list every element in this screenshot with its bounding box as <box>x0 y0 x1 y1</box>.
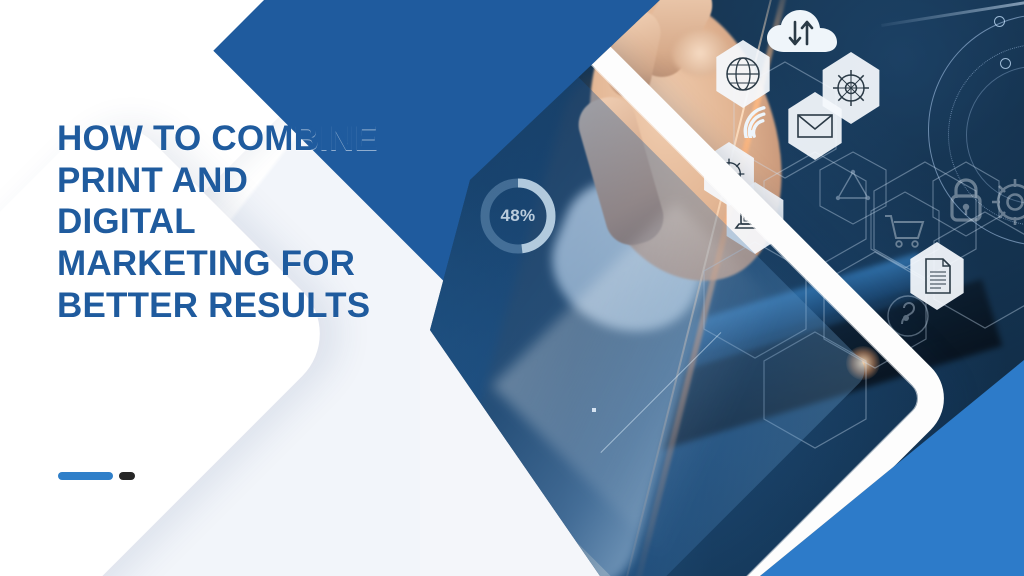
title-slide: 48% How to combine print and digital mar… <box>0 0 1024 576</box>
cloud-sync-icon <box>764 8 840 65</box>
wifi-icon <box>738 104 780 143</box>
gear-outline-icon <box>978 162 1024 240</box>
page-title: How to combine print and digital marketi… <box>57 118 452 326</box>
accent-bars <box>58 472 135 480</box>
accent-bar-blue <box>58 472 113 480</box>
progress-gauge: 48% <box>470 168 566 264</box>
radar-node-dot <box>1000 58 1011 69</box>
accent-bar-dark <box>119 472 135 480</box>
radar-node-dot <box>994 16 1005 27</box>
gauge-value-label: 48% <box>470 168 566 264</box>
